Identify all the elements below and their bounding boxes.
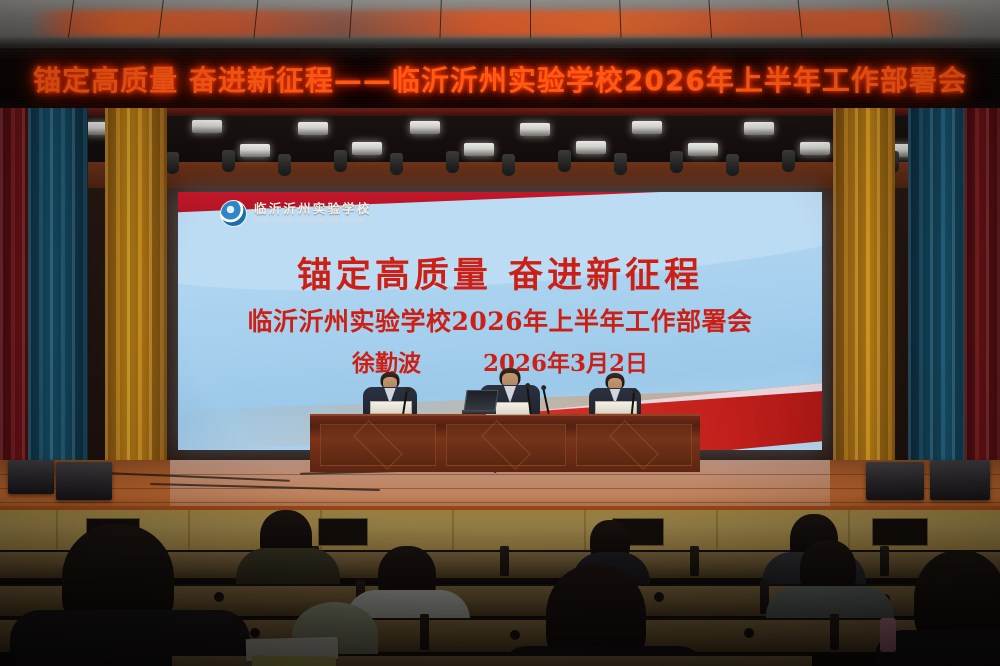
spotlight-icon xyxy=(334,150,347,172)
led-reflection-glow xyxy=(30,10,970,36)
spotlight-icon xyxy=(558,150,571,172)
podium-panel xyxy=(446,424,566,466)
led-banner-text: 锚定高质量 奋进新征程——临沂沂州实验学校2026年上半年工作部署会 xyxy=(33,59,967,99)
laptop-base xyxy=(462,410,496,414)
podium-table xyxy=(310,414,700,472)
audience-cup xyxy=(880,618,896,652)
school-logo: 临沂沂州实验学校 Linyi Yizhou Experimental Schoo… xyxy=(220,200,372,227)
spotlight-icon xyxy=(614,153,627,175)
stage-curtain-outer-right-red xyxy=(964,108,1000,480)
stage-monitor-speaker xyxy=(8,460,54,494)
audience-seating xyxy=(0,506,1000,666)
audience-shoulders xyxy=(236,548,340,588)
spotlight-icon xyxy=(222,150,235,172)
stage-light-icon xyxy=(800,142,830,155)
stage-light-icon xyxy=(688,143,718,156)
stage-light-icon xyxy=(192,120,222,133)
school-emblem-icon xyxy=(220,200,247,227)
spotlight-icon xyxy=(278,154,291,176)
podium-panel xyxy=(320,424,436,466)
led-banner-display: 锚定高质量 奋进新征程——临沂沂州实验学校2026年上半年工作部署会 xyxy=(0,46,1000,112)
stage-curtain-inner-right-gold xyxy=(833,108,895,480)
stage-light-icon xyxy=(352,142,382,155)
stage-light-icon xyxy=(744,122,774,135)
stage-light-icon xyxy=(576,141,606,154)
ceiling-panel xyxy=(0,0,1000,46)
meeting-hall-photo: 锚定高质量 奋进新征程——临沂沂州实验学校2026年上半年工作部署会 xyxy=(0,0,1000,666)
spotlight-icon xyxy=(390,153,403,175)
audience-papers-yellow xyxy=(252,655,336,666)
spotlight-icon xyxy=(502,154,515,176)
spotlight-icon xyxy=(782,150,795,172)
school-name-chinese: 临沂沂州实验学校 xyxy=(254,203,372,216)
stage-light-icon xyxy=(240,144,270,157)
stage-monitor-speaker xyxy=(930,460,990,500)
stage-light-icon xyxy=(464,143,494,156)
spotlight-icon xyxy=(166,152,179,174)
stage-curtain-inner-left-gold xyxy=(105,108,167,480)
slide-title: 锚定高质量 奋进新征程 xyxy=(178,247,822,298)
stage-curtain-mid-left-blue xyxy=(28,108,88,480)
stage-monitor-speaker xyxy=(866,462,924,500)
school-name-english: Linyi Yizhou Experimental School xyxy=(254,218,372,224)
stage-light-icon xyxy=(410,121,440,134)
podium-panel xyxy=(576,424,692,466)
laptop-screen xyxy=(463,390,498,412)
spotlight-icon xyxy=(670,151,683,173)
stage-light-icon xyxy=(632,121,662,134)
stage-monitor-speaker xyxy=(56,462,112,500)
spotlight-icon xyxy=(446,151,459,173)
stage-light-icon xyxy=(298,122,328,135)
stage-light-icon xyxy=(520,123,550,136)
slide-subtitle: 临沂沂州实验学校2026年上半年工作部署会 xyxy=(178,302,822,338)
spotlight-icon xyxy=(726,154,739,176)
lighting-truss xyxy=(80,108,920,188)
